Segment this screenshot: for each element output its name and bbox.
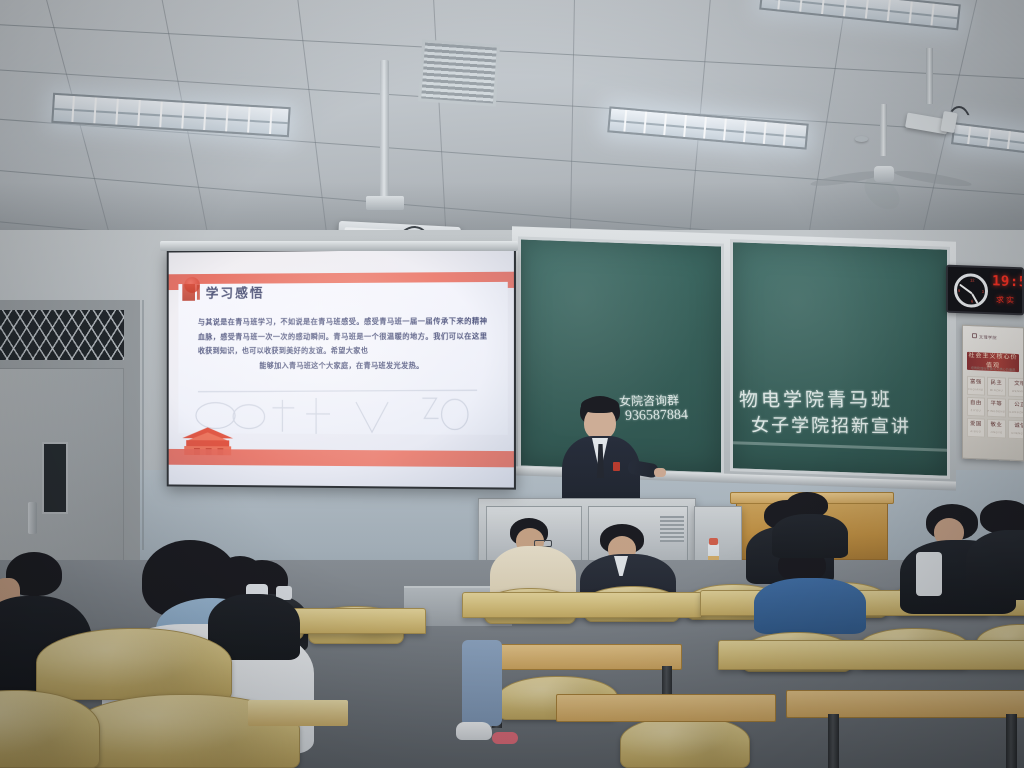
classroom-scene: 学习感悟 与其说是在青马班学习，不如说是在青马班感受。感受青马班一届一届传承下来… — [0, 0, 1024, 768]
poster-values-grid: 富强FUQIANG 民主MINZHU 文明WENMING 和谐HEXIE 自由Z… — [967, 376, 1019, 439]
slide-title-marker-bar-icon — [197, 285, 200, 300]
poster-value-cell: 自由ZIYOU — [967, 397, 984, 417]
slide-bottom-accent-bar — [169, 449, 514, 467]
door-transom-window — [0, 310, 124, 360]
slide-body-text: 与其说是在青马班学习，不如说是在青马班感受。感受青马班一届一届传承下来的精神血脉… — [198, 314, 487, 373]
poster-logo-mark-icon — [972, 333, 977, 338]
poster-value-cell: 民主MINZHU — [987, 377, 1007, 397]
door-handle[interactable] — [28, 502, 37, 534]
presenter-fringe — [581, 397, 619, 413]
slide-body-last-line: 能够加入青马班这个大家庭，在青马班发光发热。 — [198, 358, 487, 373]
lecture-desk-mid — [478, 644, 682, 670]
ceiling-light-panel — [607, 106, 809, 149]
student-torso — [966, 530, 1024, 600]
projector-mount-pole — [380, 60, 389, 210]
clock-time-display: 19:55 — [992, 273, 1024, 291]
poster-value-cell: 文明WENMING — [1008, 378, 1024, 398]
suspended-ceiling — [0, 0, 1024, 252]
door-vision-panel — [42, 442, 68, 514]
projection-screen-housing — [160, 241, 518, 251]
presenter-hand — [654, 468, 666, 477]
core-values-poster: 文理学院 社会主义核心价值观 培育和践行社会主义核心价值观 富强FUQIANG … — [962, 325, 1024, 462]
poster-value-cell: 富强FUQIANG — [967, 376, 984, 396]
blackboard-text-left-line1: 女院咨询群 — [619, 391, 680, 409]
digital-wall-clock: 12 3 6 9 19:55 求实 — [946, 265, 1024, 316]
smoke-detector-icon — [855, 136, 868, 142]
lecture-seat-foreground[interactable] — [36, 628, 232, 700]
clock-motto: 求实 — [996, 294, 1016, 306]
lecture-desk-front-right — [786, 690, 1024, 718]
water-bottle-cap — [709, 538, 718, 545]
poster-school-logo: 文理学院 — [979, 334, 997, 341]
blackboard-text-right-line1: 物电学院青马班 — [739, 385, 894, 412]
blackboard-panel-right: 物电学院青马班 女子学院招新宣讲 — [730, 239, 950, 479]
lecture-desk-foreground-edge — [248, 700, 348, 726]
blackboard-text-right-line2: 女子学院招新宣讲 — [751, 411, 912, 438]
lecture-desk-row — [462, 592, 702, 618]
slide-title-marker-icon — [182, 284, 195, 301]
desk-leg — [828, 714, 839, 768]
student-shoe — [456, 722, 492, 740]
student-slipper — [492, 732, 518, 744]
clock-minute-hand — [959, 284, 972, 295]
student-hair — [980, 500, 1024, 534]
presentation-slide: 学习感悟 与其说是在青马班学习，不如说是在青马班感受。感受青马班一届一届传承下来… — [169, 249, 514, 487]
poster-value-cell: 平等PINGDENG — [987, 398, 1007, 418]
presenter-lapel-badge — [613, 462, 620, 471]
lecture-desk-row — [718, 640, 1024, 670]
slide-title: 学习感悟 — [206, 282, 265, 301]
poster-value-cell: 诚信CHENGXIN — [1008, 420, 1024, 440]
projection-screen[interactable]: 学习感悟 与其说是在青马班学习，不如说是在青马班感受。感受青马班一届一届传承下来… — [167, 247, 516, 489]
poster-value-cell: 公正GONGZHENG — [1008, 399, 1024, 419]
ceiling-air-vent — [418, 39, 500, 106]
projector-bracket — [366, 196, 404, 210]
ceiling-light-panel — [759, 0, 961, 30]
lecture-seat[interactable] — [620, 716, 750, 768]
desk-leg — [1006, 714, 1017, 768]
student-torso — [772, 514, 848, 558]
poster-value-cell: 爱国AIGUO — [967, 418, 984, 438]
analog-clock-face: 12 3 6 9 — [954, 273, 988, 308]
wall-seam — [142, 300, 144, 550]
poster-value-cell: 敬业JINGYE — [987, 419, 1007, 439]
student-torso — [754, 578, 866, 634]
blackboard-text-left-line2: 936587884 — [625, 408, 689, 425]
console-vent — [660, 516, 684, 542]
slide-body-main: 与其说是在青马班学习，不如说是在青马班感受。感受青马班一届一届传承下来的精神血脉… — [198, 316, 487, 355]
poster-subheading: 培育和践行社会主义核心价值观 — [968, 365, 1018, 372]
lecture-desk-front-mid — [556, 694, 776, 722]
student-lower-legs — [462, 640, 502, 726]
